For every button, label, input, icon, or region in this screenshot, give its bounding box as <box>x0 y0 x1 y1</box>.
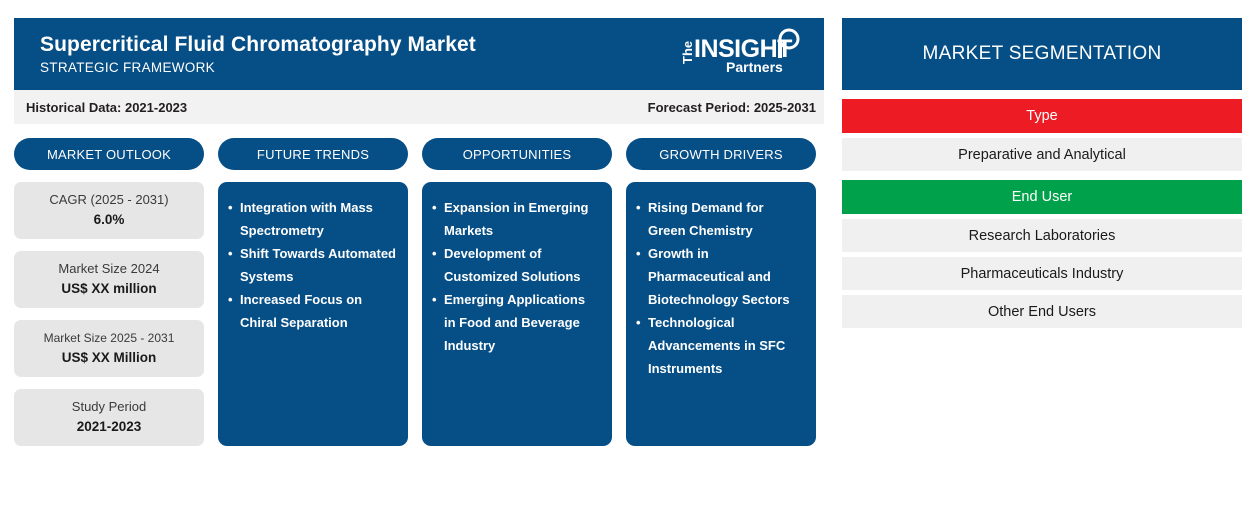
magnifier-handle-icon <box>778 42 782 58</box>
infographic-page: Supercritical Fluid Chromatography Marke… <box>0 0 1254 530</box>
list-item: Technological Advancements in SFC Instru… <box>636 311 804 380</box>
list-item: Integration with Mass Spectrometry <box>228 196 396 242</box>
bullet-card-opportunities: Expansion in Emerging Markets Developmen… <box>422 182 612 446</box>
logo-svg: The INSIGHT Partners <box>674 26 806 78</box>
segmentation-category-header: Type <box>842 99 1242 133</box>
stat-label: Study Period <box>22 399 196 415</box>
stat-label: CAGR (2025 - 2031) <box>22 192 196 208</box>
list-item: Rising Demand for Green Chemistry <box>636 196 804 242</box>
left-panel: Supercritical Fluid Chromatography Marke… <box>14 18 824 446</box>
segmentation-item: Research Laboratories <box>842 219 1242 252</box>
column-market-outlook: MARKET OUTLOOK CAGR (2025 - 2031) 6.0% M… <box>14 138 204 446</box>
stat-value: US$ XX Million <box>22 350 196 366</box>
segmentation-category-header: End User <box>842 180 1242 214</box>
stat-card-market-size-2024: Market Size 2024 US$ XX million <box>14 251 204 308</box>
column-opportunities: OPPORTUNITIES Expansion in Emerging Mark… <box>422 138 612 446</box>
segmentation-title: MARKET SEGMENTATION <box>842 18 1242 90</box>
column-heading-future-trends: FUTURE TRENDS <box>218 138 408 170</box>
bullet-list: Rising Demand for Green Chemistry Growth… <box>636 196 804 380</box>
historical-data-label: Historical Data: 2021-2023 <box>26 100 187 115</box>
bullet-card-growth-drivers: Rising Demand for Green Chemistry Growth… <box>626 182 816 446</box>
bullet-list: Expansion in Emerging Markets Developmen… <box>432 196 600 357</box>
segmentation-item: Other End Users <box>842 295 1242 328</box>
list-item: Development of Customized Solutions <box>432 242 600 288</box>
logo-partners-text: Partners <box>726 59 783 75</box>
list-item: Growth in Pharmaceutical and Biotechnolo… <box>636 242 804 311</box>
segmentation-group-type: Type Preparative and Analytical <box>842 99 1242 171</box>
insight-partners-logo: The INSIGHT Partners <box>674 26 806 83</box>
stat-value: 6.0% <box>22 212 196 228</box>
bullet-card-future-trends: Integration with Mass Spectrometry Shift… <box>218 182 408 446</box>
page-title: Supercritical Fluid Chromatography Marke… <box>40 32 476 58</box>
segmentation-item: Pharmaceuticals Industry <box>842 257 1242 290</box>
stat-value: US$ XX million <box>22 281 196 297</box>
column-heading-growth-drivers: GROWTH DRIVERS <box>626 138 816 170</box>
column-growth-drivers: GROWTH DRIVERS Rising Demand for Green C… <box>626 138 816 446</box>
market-segmentation-panel: MARKET SEGMENTATION Type Preparative and… <box>842 18 1242 328</box>
list-item: Increased Focus on Chiral Separation <box>228 288 396 334</box>
framework-columns: MARKET OUTLOOK CAGR (2025 - 2031) 6.0% M… <box>14 138 824 446</box>
segmentation-group-end-user: End User Research Laboratories Pharmaceu… <box>842 180 1242 328</box>
page-subtitle: STRATEGIC FRAMEWORK <box>40 59 476 77</box>
logo-the-text: The <box>680 40 695 63</box>
column-future-trends: FUTURE TRENDS Integration with Mass Spec… <box>218 138 408 446</box>
stat-label: Market Size 2024 <box>22 261 196 277</box>
stat-label: Market Size 2025 - 2031 <box>22 330 196 346</box>
stat-card-market-size-forecast: Market Size 2025 - 2031 US$ XX Million <box>14 320 204 377</box>
header-titles: Supercritical Fluid Chromatography Marke… <box>40 32 476 77</box>
bullet-list: Integration with Mass Spectrometry Shift… <box>228 196 396 334</box>
stat-card-study-period: Study Period 2021-2023 <box>14 389 204 446</box>
period-strip: Historical Data: 2021-2023 Forecast Peri… <box>14 90 824 124</box>
column-heading-opportunities: OPPORTUNITIES <box>422 138 612 170</box>
stat-value: 2021-2023 <box>22 419 196 435</box>
list-item: Emerging Applications in Food and Bevera… <box>432 288 600 357</box>
stat-card-cagr: CAGR (2025 - 2031) 6.0% <box>14 182 204 239</box>
segmentation-item: Preparative and Analytical <box>842 138 1242 171</box>
header-banner: Supercritical Fluid Chromatography Marke… <box>14 18 824 90</box>
list-item: Shift Towards Automated Systems <box>228 242 396 288</box>
forecast-period-label: Forecast Period: 2025-2031 <box>648 100 816 115</box>
column-heading-market-outlook: MARKET OUTLOOK <box>14 138 204 170</box>
list-item: Expansion in Emerging Markets <box>432 196 600 242</box>
